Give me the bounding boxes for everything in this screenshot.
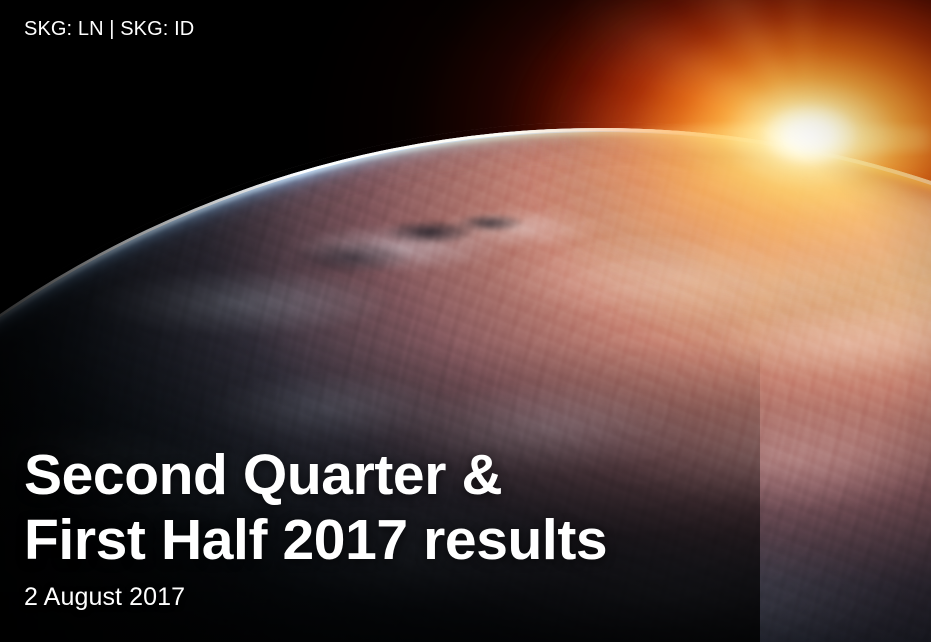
page-title-line-1: Second Quarter & <box>24 443 904 508</box>
page-title: Second Quarter & First Half 2017 results <box>24 443 904 573</box>
title-block: Second Quarter & First Half 2017 results… <box>24 443 904 612</box>
presentation-date: 2 August 2017 <box>24 582 904 612</box>
page-title-line-2: First Half 2017 results <box>24 508 904 573</box>
presentation-title-slide: SKG: LN | SKG: ID Second Quarter & First… <box>0 0 931 642</box>
stock-ticker-label: SKG: LN | SKG: ID <box>24 17 194 41</box>
